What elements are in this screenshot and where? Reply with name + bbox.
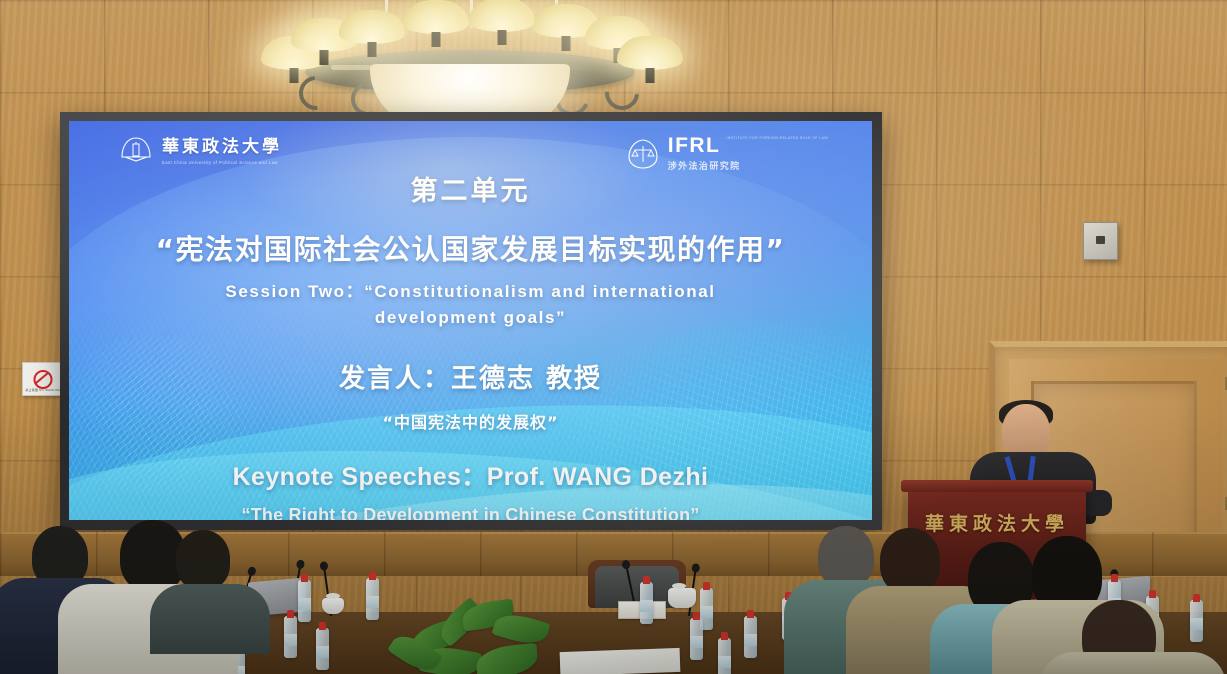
- conference-photo: 禁止吸烟 NO SMOKING: [0, 0, 1227, 674]
- photo-vignette: [0, 0, 1227, 674]
